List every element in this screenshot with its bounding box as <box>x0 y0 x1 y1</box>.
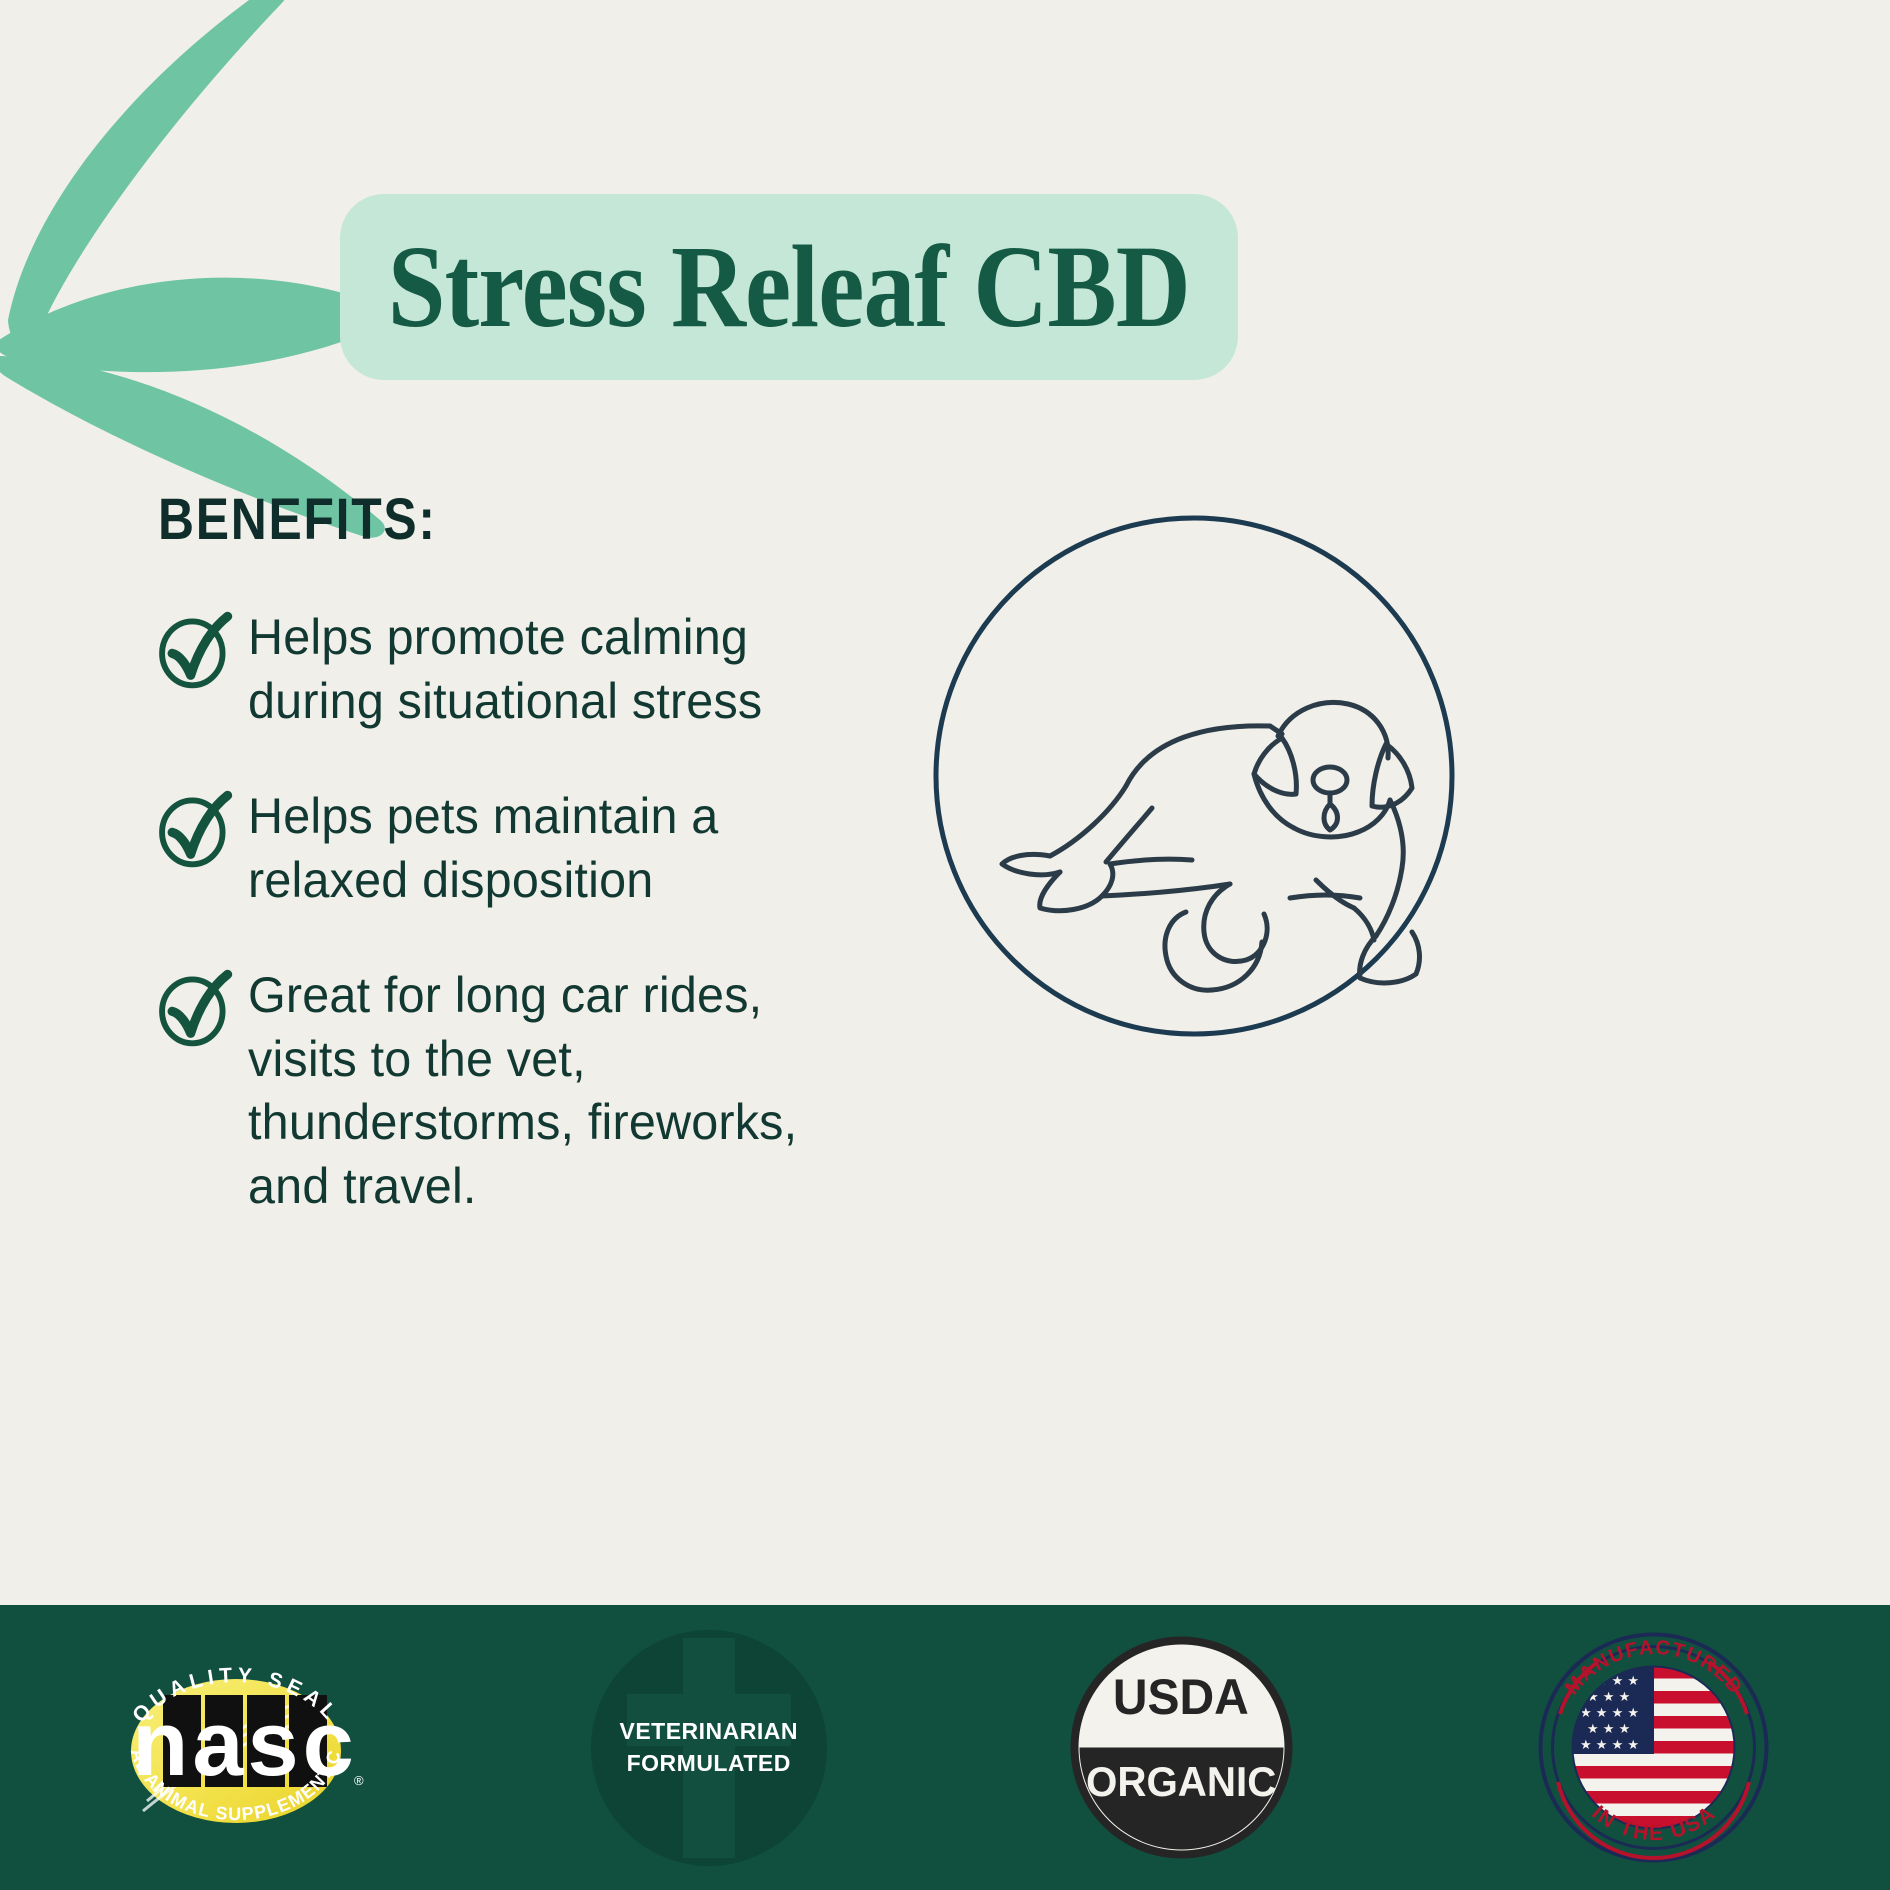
check-circle-icon <box>152 966 236 1050</box>
organic-word: ORGANIC <box>1086 1758 1276 1806</box>
badge-slot-veterinarian: VETERINARIAN FORMULATED <box>473 1605 946 1890</box>
nasc-quality-seal-icon: nasc QUALITY SEAL NATIONAL ANIMAL SUPPLE… <box>101 1633 371 1863</box>
title-banner: Stress Releaf CBD <box>340 194 1238 380</box>
lying-dog-illustration <box>930 512 1458 1040</box>
certification-badge-bar: nasc QUALITY SEAL NATIONAL ANIMAL SUPPLE… <box>0 1605 1890 1890</box>
benefit-text: Helps promote calming during situational… <box>248 606 762 733</box>
svg-text:★ ★ ★ ★: ★ ★ ★ ★ <box>1580 1706 1639 1721</box>
usda-word: USDA <box>1113 1668 1249 1726</box>
check-circle-icon <box>152 608 236 692</box>
svg-text:★ ★ ★: ★ ★ ★ <box>1587 1722 1630 1737</box>
vet-line-2: FORMULATED <box>627 1748 791 1779</box>
benefits-list: Helps promote calming during situational… <box>152 606 942 1270</box>
badge-slot-made-in-usa: ★ ★ ★ ★ ★ ★ ★ ★ ★ ★ ★ ★ ★ ★ ★ ★ ★ ★ MANU… <box>1418 1605 1890 1890</box>
registered-mark: ® <box>354 1773 364 1788</box>
benefit-text: Helps pets maintain a relaxed dispositio… <box>248 785 718 912</box>
dog-line-art-icon <box>1002 702 1419 990</box>
benefits-heading: BENEFITS: <box>158 486 437 553</box>
manufactured-in-usa-icon: ★ ★ ★ ★ ★ ★ ★ ★ ★ ★ ★ ★ ★ ★ ★ ★ ★ ★ MANU… <box>1536 1630 1771 1865</box>
benefit-text: Great for long car rides, visits to the … <box>248 964 797 1218</box>
list-item: Helps promote calming during situational… <box>152 606 942 733</box>
badge-slot-nasc: nasc QUALITY SEAL NATIONAL ANIMAL SUPPLE… <box>0 1605 473 1890</box>
list-item: Great for long car rides, visits to the … <box>152 964 942 1218</box>
badge-slot-usda: USDA ORGANIC <box>945 1605 1418 1890</box>
list-item: Helps pets maintain a relaxed dispositio… <box>152 785 942 912</box>
page-title: Stress Releaf CBD <box>388 228 1190 346</box>
check-circle-icon <box>152 787 236 871</box>
svg-text:★ ★ ★ ★: ★ ★ ★ ★ <box>1580 1738 1639 1753</box>
vet-line-1: VETERINARIAN <box>619 1716 798 1747</box>
product-infographic: Stress Releaf CBD BENEFITS: Helps promot… <box>0 0 1890 1890</box>
